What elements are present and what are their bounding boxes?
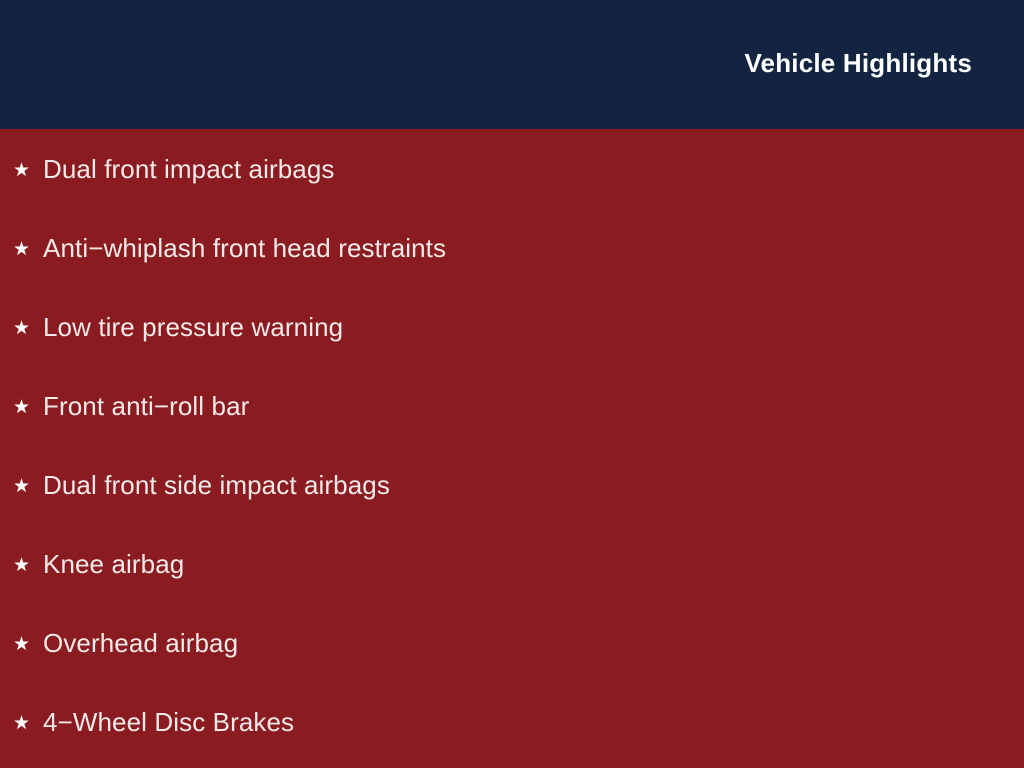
list-item-label: Overhead airbag <box>43 629 1024 657</box>
star-bullet-icon: ★ <box>13 236 43 264</box>
list-item: ★ Dual front side impact airbags <box>0 471 1024 550</box>
list-item: ★ Low tire pressure warning <box>0 313 1024 392</box>
slide-header-band: Vehicle Highlights <box>0 0 1024 129</box>
page-title: Vehicle Highlights <box>744 49 972 78</box>
list-item: ★ Anti−whiplash front head restraints <box>0 234 1024 313</box>
star-bullet-icon: ★ <box>13 631 43 659</box>
list-item-label: 4−Wheel Disc Brakes <box>43 708 1024 736</box>
star-bullet-icon: ★ <box>13 710 43 738</box>
star-bullet-icon: ★ <box>13 552 43 580</box>
list-item-label: Front anti−roll bar <box>43 392 1024 420</box>
vehicle-highlights-slide: Vehicle Highlights ★ Dual front impact a… <box>0 0 1024 768</box>
list-item-label: Low tire pressure warning <box>43 313 1024 341</box>
list-item: ★ Overhead airbag <box>0 629 1024 708</box>
list-item: ★ 4−Wheel Disc Brakes <box>0 708 1024 768</box>
star-bullet-icon: ★ <box>13 473 43 501</box>
star-bullet-icon: ★ <box>13 157 43 185</box>
list-item-label: Dual front side impact airbags <box>43 471 1024 499</box>
star-bullet-icon: ★ <box>13 315 43 343</box>
highlights-list: ★ Dual front impact airbags ★ Anti−whipl… <box>0 155 1024 768</box>
list-item: ★ Knee airbag <box>0 550 1024 629</box>
star-bullet-icon: ★ <box>13 394 43 422</box>
list-item-label: Knee airbag <box>43 550 1024 578</box>
list-item-label: Dual front impact airbags <box>43 155 1024 183</box>
highlights-body: ★ Dual front impact airbags ★ Anti−whipl… <box>0 129 1024 768</box>
list-item: ★ Dual front impact airbags <box>0 155 1024 234</box>
list-item: ★ Front anti−roll bar <box>0 392 1024 471</box>
list-item-label: Anti−whiplash front head restraints <box>43 234 1024 262</box>
